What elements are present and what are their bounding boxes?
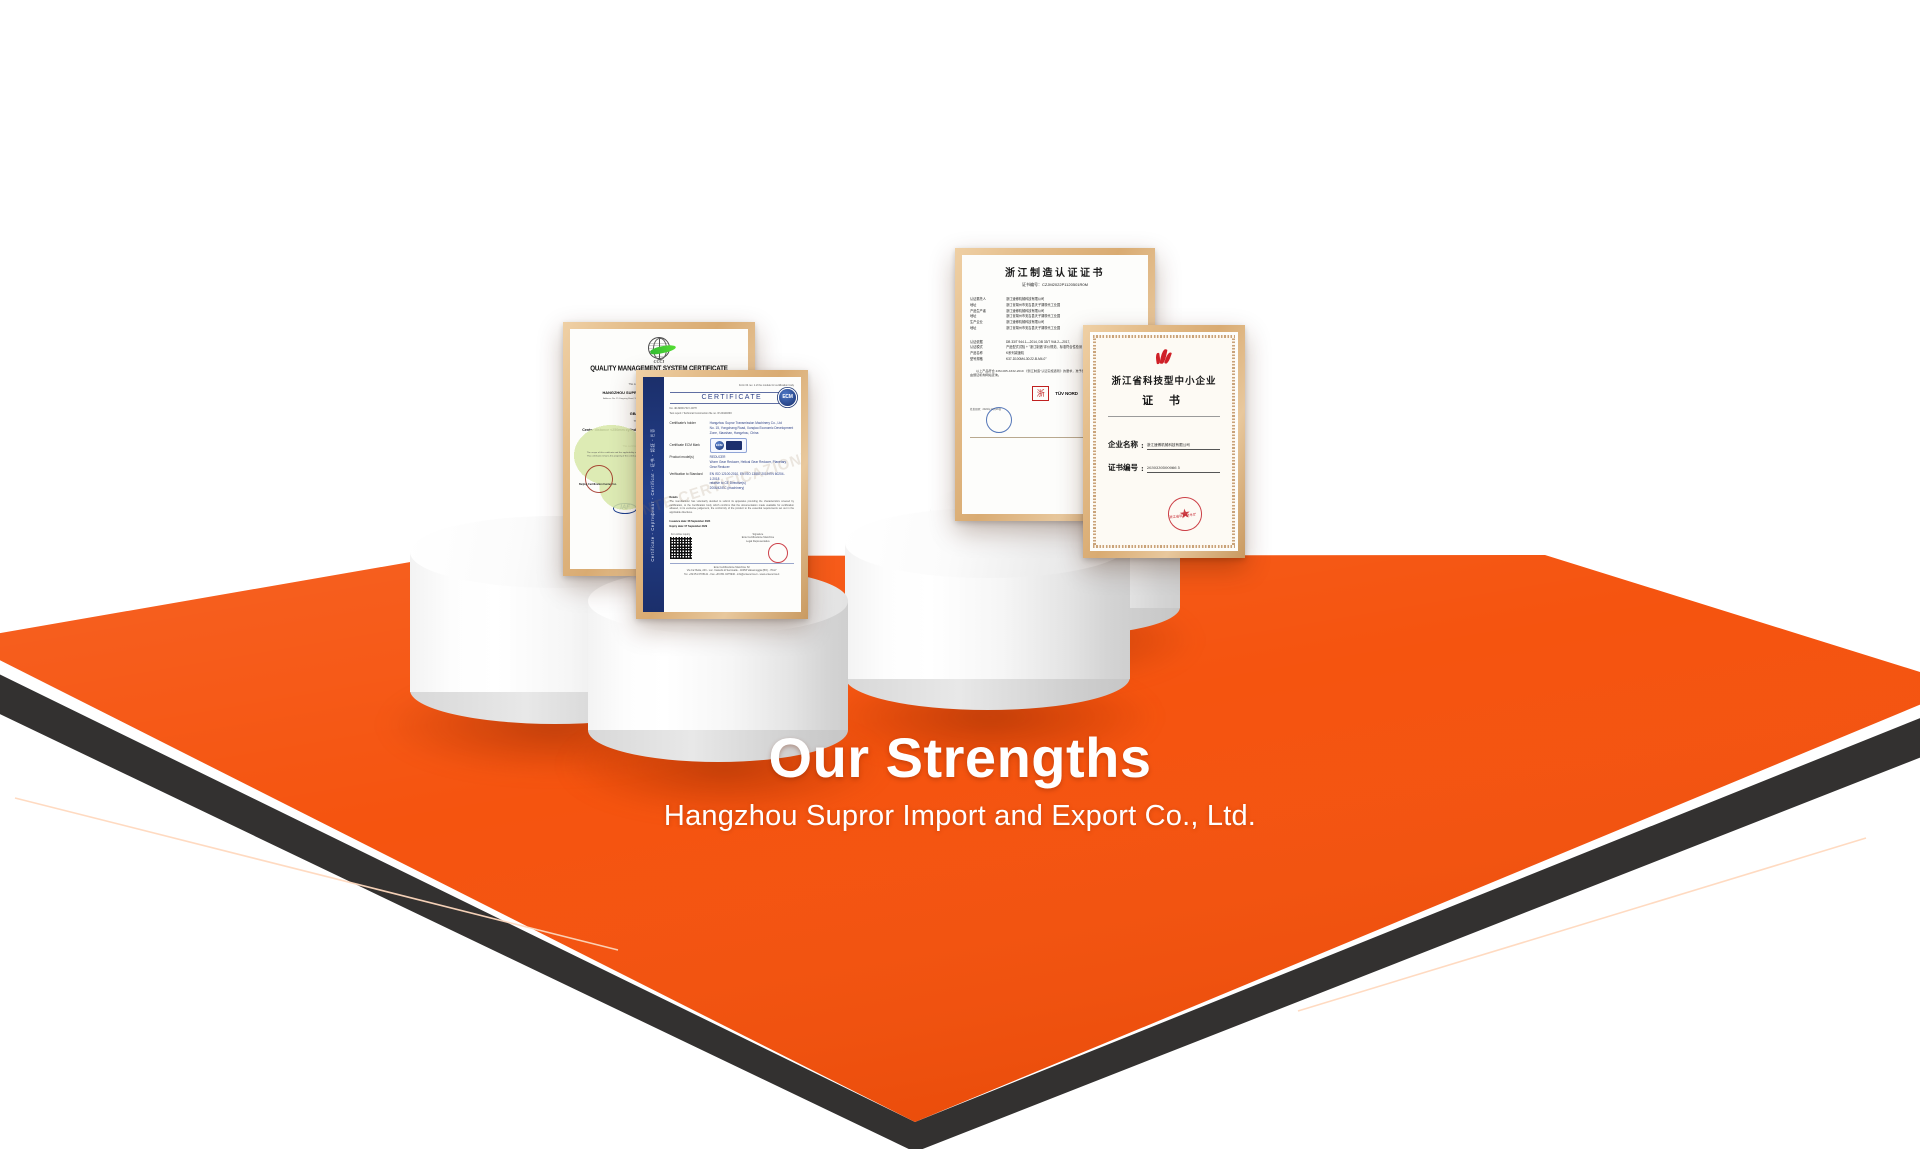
row-value: REDUCER Worm Gear Reducer, Helical Gear … — [710, 455, 794, 469]
red-round-stamp-icon — [582, 462, 616, 496]
field-value: 浙江速博机械科技有限公司 — [1147, 443, 1220, 449]
expiry-label: Expiry date: — [670, 525, 684, 528]
cert-row: Product model(s) REDUCER Worm Gear Reduc… — [670, 455, 794, 469]
ecm-mark-plate-icon — [726, 441, 742, 450]
qr-code-icon[interactable] — [670, 537, 692, 559]
row-label: Certificate ECM Mark — [670, 443, 706, 448]
cert-number-line: 证书编号：CZJM2022P1120501R0M — [970, 282, 1140, 288]
zhejiang-tech-flame-logo-icon — [1155, 349, 1173, 369]
expiry-value: 07 September 2029 — [685, 525, 708, 528]
page-subtitle: Hangzhou Supror Import and Export Co., L… — [0, 800, 1920, 833]
issuance-date: Issuance date: 08 September 2024 — [670, 520, 794, 524]
frame-mat: 浙江省科技型中小企业 证 书 企业名称 : 浙江速博机械科技有限公司 证书编号 … — [1090, 332, 1238, 551]
number-label: No. — [670, 407, 674, 410]
side-band-text: Certificate - Сертификат - Certificat - … — [650, 428, 656, 561]
divider — [1108, 416, 1220, 417]
row-value: EN ISO 12100:2010, EN ISO 13857:2019 EN … — [710, 472, 794, 491]
standard-label: 型号规格 — [970, 357, 1006, 363]
ecm-logo-icon: ECM — [779, 389, 796, 406]
frame-mat: Certificate - Сертификат - Certificat - … — [643, 377, 801, 612]
title-row: CERTIFICATE ECM — [670, 392, 794, 404]
cert-number-value: CZJM2022P1120501R0M — [1042, 282, 1088, 287]
cert-title: 浙江制造认证证书 — [970, 264, 1140, 279]
page-title: Our Strengths — [0, 725, 1920, 790]
row-label: Certificate's holder — [670, 421, 706, 435]
frame-border: Certificate - Сертификат - Certificat - … — [636, 370, 808, 619]
field-colon: : — [1141, 464, 1144, 473]
certificate-page: 浙江省科技型中小企业 证 书 企业名称 : 浙江速博机械科技有限公司 证书编号 … — [1090, 332, 1238, 551]
certificate-number: No. 4D-MRD-HGY-CIPH — [670, 407, 794, 411]
signature-block: Signature Ente Certificazione Macchine L… — [722, 533, 794, 544]
certificate-footer: Ente Certificazione Macchine Srl Via Ca'… — [670, 563, 794, 576]
issuer-organization: Beijing Certification Center, Inc. — [579, 483, 617, 487]
field-label: 企业名称 — [1108, 439, 1138, 450]
certificate-content: 浙江省科技型中小企业 证 书 企业名称 : 浙江速博机械科技有限公司 证书编号 … — [1099, 341, 1229, 542]
qr-block: For online inquiry — [670, 533, 692, 560]
certificate-ecm[interactable]: Certificate - Сертификат - Certificat - … — [636, 370, 808, 619]
seal-area: ★ 浙江省科学技术厅 — [1108, 495, 1220, 541]
zhejiang-manufacture-mark-icon: 浙 — [1032, 386, 1049, 401]
form-note: Form 04 rev. 1 of the module for certifi… — [670, 384, 794, 388]
ccci-globe-logo-icon — [642, 337, 676, 359]
cert-row: Certificate's holder Hangzhou Supror Tra… — [670, 421, 794, 435]
info-label: 地址 — [970, 326, 1006, 332]
row-value: ECM — [710, 438, 794, 453]
footer-signature-row: For online inquiry Signature Ente Certif… — [670, 533, 794, 560]
certificate-page: Certificate - Сертификат - Certificat - … — [643, 377, 801, 612]
field-colon: : — [1141, 441, 1144, 450]
certificate-zhejiang-tech-sme[interactable]: 浙江省科技型中小企业 证 书 企业名称 : 浙江速博机械科技有限公司 证书编号 … — [1083, 325, 1245, 558]
rule-bottom — [670, 403, 794, 404]
cert-title: 浙江省科技型中小企业 — [1108, 373, 1220, 387]
cert-row: Certificate ECM Mark ECM — [670, 438, 794, 453]
details-text: The manufacturer has voluntarily decided… — [670, 500, 794, 514]
row-label: Product model(s) — [670, 455, 706, 469]
cert-title: CERTIFICATE — [670, 394, 794, 401]
blue-round-seal-icon — [986, 407, 1012, 433]
expiry-date: Expiry date: 07 September 2029 — [670, 525, 794, 529]
frame-border: 浙江省科技型中小企业 证 书 企业名称 : 浙江速博机械科技有限公司 证书编号 … — [1083, 325, 1245, 558]
cert-row: Verification to Standard EN ISO 12100:20… — [670, 472, 794, 491]
test-report-line: Test report / Technical Construction fil… — [670, 412, 794, 416]
row-value: Hangzhou Supror Transmission Machinery C… — [710, 421, 794, 435]
hero-banner: 浙江制造认证证书 证书编号：CZJM2022P1120501R0M 认证委托人 … — [0, 0, 1920, 1149]
signature-text: Signature Ente Certificazione Macchine L… — [722, 533, 794, 544]
field-certificate-number: 证书编号 : 2030330500066 5 — [1108, 462, 1220, 473]
field-company-name: 企业名称 : 浙江速博机械科技有限公司 — [1108, 439, 1220, 450]
tuv-nord-logo: TÜV NORD — [1055, 391, 1077, 396]
certificate-side-band: Certificate - Сертификат - Certificat - … — [643, 377, 664, 612]
cert-number-label: 证书编号： — [1022, 282, 1042, 287]
issuance-value: 08 September 2024 — [688, 520, 711, 523]
ecm-mark-icon: ECM — [715, 441, 724, 450]
field-label: 证书编号 — [1108, 462, 1138, 473]
red-company-seal-icon — [768, 543, 788, 563]
field-value: 2030330500066 5 — [1147, 466, 1220, 472]
number-value: 4D-MRD-HGY-CIPH — [674, 407, 697, 410]
cert-subtitle: 证 书 — [1108, 392, 1220, 408]
row-label: Verification to Standard — [670, 472, 706, 491]
certificate-rows: Certificate's holder Hangzhou Supror Tra… — [670, 421, 794, 490]
details-label: Details — [670, 496, 794, 500]
certificate-body: Form 04 rev. 1 of the module for certifi… — [664, 377, 801, 612]
issuance-label: Issuance date: — [670, 520, 687, 523]
rule-top — [670, 392, 794, 393]
qr-caption: For online inquiry — [670, 533, 692, 537]
